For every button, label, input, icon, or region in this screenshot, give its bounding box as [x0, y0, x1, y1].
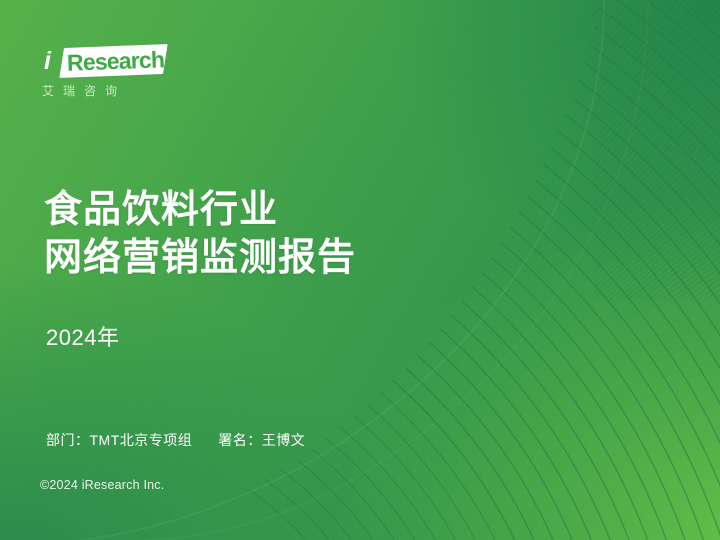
- department-label: 部门：: [46, 432, 90, 448]
- logo-chinese-name: 艾瑞咨询: [42, 82, 126, 99]
- report-meta-line: 部门：TMT北京专项组署名：王博文: [46, 430, 305, 450]
- author-label: 署名：: [218, 432, 262, 448]
- logo-letter-i: i: [44, 49, 50, 74]
- page-title-line-1: 食品饮料行业: [44, 186, 356, 234]
- page-title: 食品饮料行业 网络营销监测报告: [44, 186, 356, 282]
- copyright-text: ©2024 iResearch Inc.: [40, 478, 164, 492]
- author-value: 王博文: [262, 432, 306, 448]
- iresearch-logo: i Research 艾瑞咨询: [42, 46, 167, 104]
- logo-wordmark: Research: [67, 47, 165, 75]
- logo-mark: i Research: [42, 46, 167, 80]
- department-value: TMT北京专项组: [90, 432, 193, 448]
- report-year: 2024年: [46, 320, 119, 352]
- page-title-line-2: 网络营销监测报告: [44, 234, 356, 282]
- report-cover-slide: i Research 艾瑞咨询 食品饮料行业 网络营销监测报告 2024年 部门…: [0, 0, 720, 540]
